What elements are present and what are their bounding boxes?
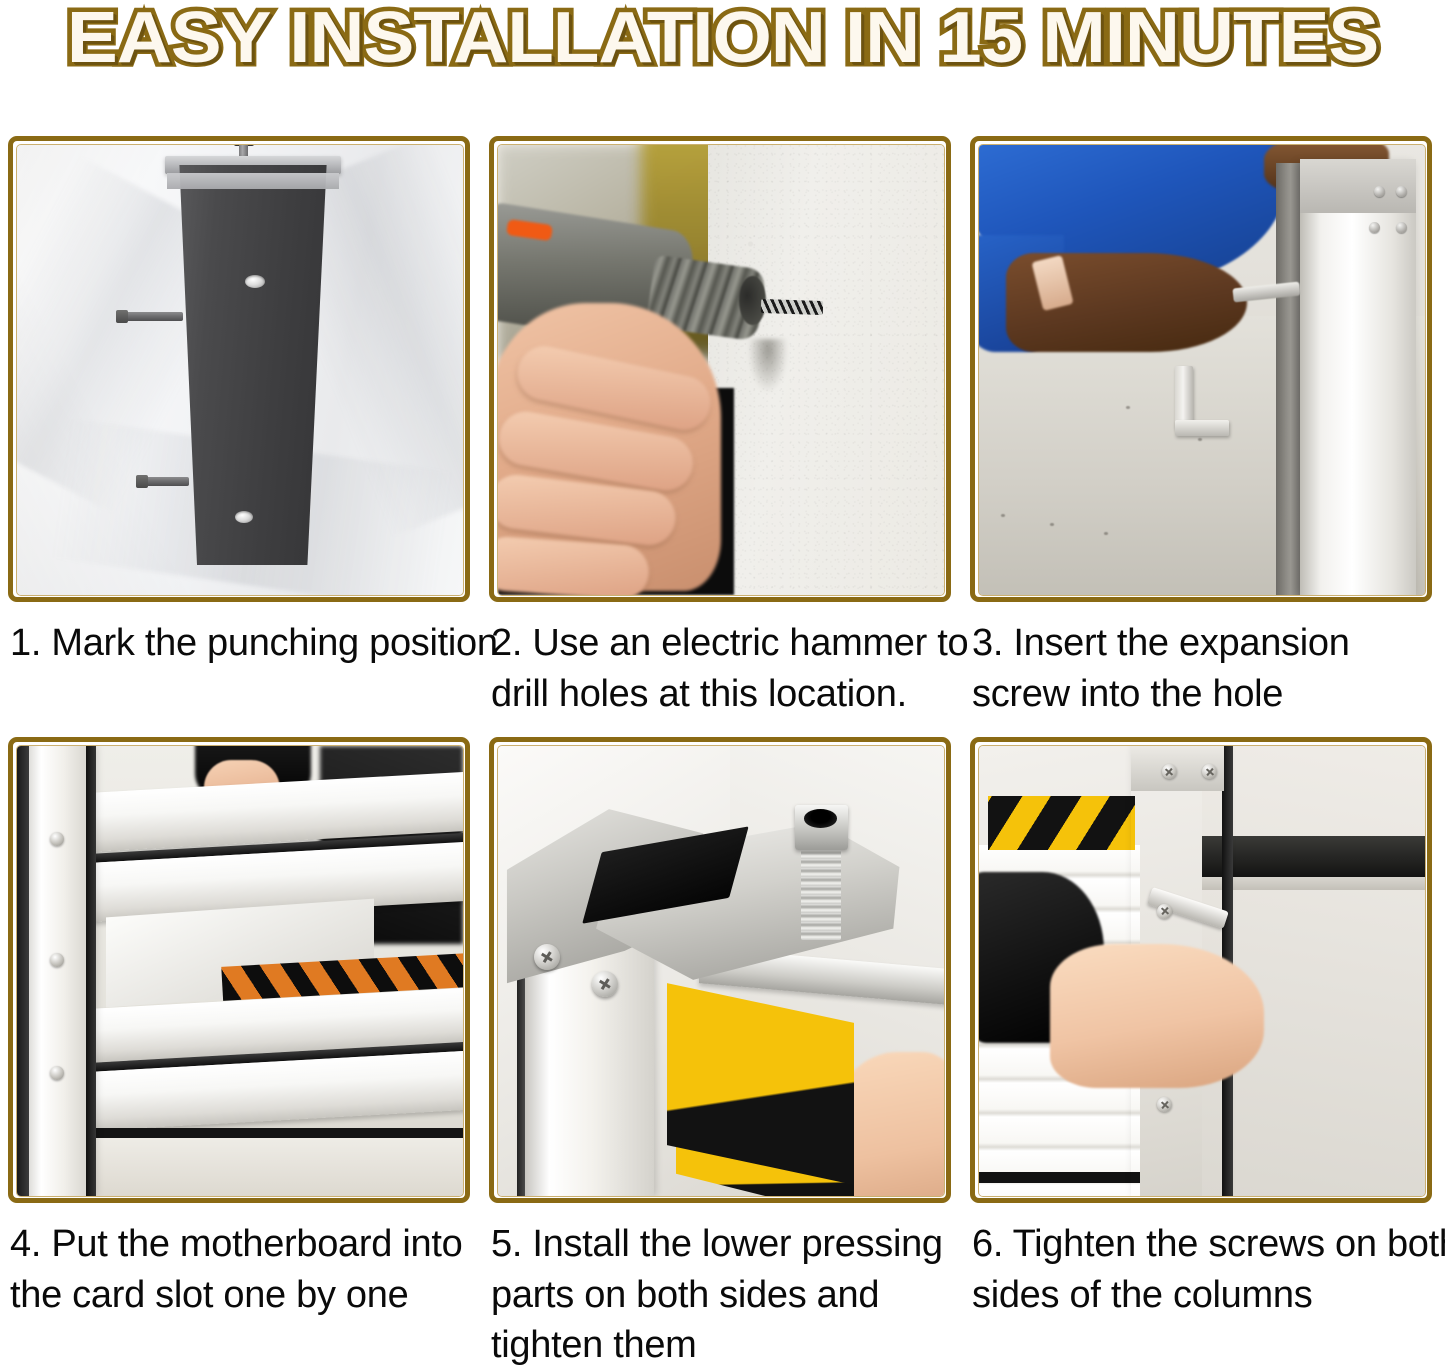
bracket-screw (1369, 222, 1380, 233)
step-photo-frame-6 (970, 737, 1432, 1203)
step-photo-1 (16, 144, 464, 596)
drill-dust (748, 339, 788, 393)
steps-row-top: 1. Mark the punching position (8, 136, 1437, 719)
step-photo-3 (978, 144, 1426, 596)
floor-debris (1104, 532, 1108, 535)
step-caption-5: 5. Install the lower pressing parts on b… (489, 1203, 951, 1371)
step-photo-frame-3 (970, 136, 1432, 602)
photo-lower-pressing-parts (498, 746, 944, 1196)
column-screw (1202, 764, 1217, 779)
step-card-3: 3. Insert the expansion screw into the h… (970, 136, 1432, 719)
caption-line: 6. Tighten the screws on both (972, 1219, 1428, 1270)
white-textured-wall (708, 145, 944, 595)
side-bolt-lower (141, 477, 189, 486)
column-dark-edge (17, 746, 29, 1196)
step-photo-frame-5 (489, 737, 951, 1203)
column-screw (50, 832, 64, 846)
white-column (520, 940, 654, 1197)
floor-debris (1198, 438, 1202, 441)
steps-row-bottom: 4. Put the motherboard into the card slo… (8, 737, 1437, 1371)
bracket-screw (534, 944, 560, 970)
bracket-screw (592, 971, 618, 997)
step-card-6: 6. Tighten the screws on both sides of t… (970, 737, 1432, 1320)
caption-line: 3. Insert the expansion (972, 618, 1428, 669)
white-column (21, 746, 92, 1196)
step-card-1: 1. Mark the punching position (8, 136, 470, 669)
post-top-plate-shadow (167, 173, 339, 189)
photo-drill-holes (498, 145, 944, 595)
side-bolt-upper (121, 312, 183, 321)
photo-mark-punching-position (17, 145, 463, 595)
column-screw (50, 1066, 64, 1080)
step-photo-frame-2 (489, 136, 951, 602)
step-caption-1: 1. Mark the punching position (8, 602, 470, 669)
hex-bolt-socket (804, 809, 837, 828)
caption-line: screw into the hole (972, 669, 1428, 720)
mounting-hole-upper (245, 275, 265, 288)
photo-insert-expansion-screw (979, 145, 1425, 595)
caption-line: 4. Put the motherboard into (10, 1219, 466, 1270)
step-caption-2: 2. Use an electric hammer to drill holes… (489, 602, 951, 719)
steps-grid: 1. Mark the punching position (0, 136, 1445, 1371)
step-caption-4: 4. Put the motherboard into the card slo… (8, 1203, 470, 1320)
baseboard (1202, 836, 1425, 877)
step-photo-frame-1 (8, 136, 470, 602)
caption-line: 1. Mark the punching position (10, 618, 466, 669)
caption-line: 2. Use an electric hammer to (491, 618, 947, 669)
step-caption-3: 3. Insert the expansion screw into the h… (970, 602, 1432, 719)
step-photo-4 (16, 745, 464, 1197)
step-photo-5 (497, 745, 945, 1197)
header-banner: EASY INSTALLATION IN 15 MINUTES (0, 0, 1445, 108)
step-card-4: 4. Put the motherboard into the card slo… (8, 737, 470, 1320)
caption-line: tighten them (491, 1320, 947, 1371)
step-photo-2 (497, 144, 945, 596)
hazard-stripe-tape (988, 796, 1135, 850)
column-dark-edge (1276, 163, 1301, 595)
step-photo-frame-4 (8, 737, 470, 1203)
caption-line: parts on both sides and (491, 1270, 947, 1321)
caption-line: 5. Install the lower pressing (491, 1219, 947, 1270)
photo-motherboard-card-slot (17, 746, 463, 1196)
dark-metal-post (173, 165, 333, 565)
page-title: EASY INSTALLATION IN 15 MINUTES (67, 2, 1378, 74)
floor-shadow-strip (979, 1172, 1140, 1183)
step-card-5: 5. Install the lower pressing parts on b… (489, 737, 951, 1371)
caption-line: the card slot one by one (10, 1270, 466, 1321)
mounting-hole-lower (235, 511, 253, 523)
column-screw (1162, 764, 1177, 779)
photo-tighten-column-screws (979, 746, 1425, 1196)
step-caption-6: 6. Tighten the screws on both sides of t… (970, 1203, 1432, 1320)
allen-key-horizontal (1175, 420, 1229, 436)
hand-with-screwdriver (1050, 944, 1264, 1088)
floor-line (1202, 877, 1425, 891)
column-rail (86, 746, 96, 1196)
step-photo-6 (978, 745, 1426, 1197)
caption-line: sides of the columns (972, 1270, 1428, 1321)
step-card-2: 2. Use an electric hammer to drill holes… (489, 136, 951, 719)
bracket-screw (1396, 222, 1407, 233)
column-screw (1157, 904, 1172, 919)
caption-line: drill holes at this location. (491, 669, 947, 720)
hex-bolt-shaft (801, 845, 841, 940)
bracket-screw (1396, 186, 1407, 197)
drill-bit (761, 299, 824, 316)
bracket-screw (1374, 186, 1385, 197)
